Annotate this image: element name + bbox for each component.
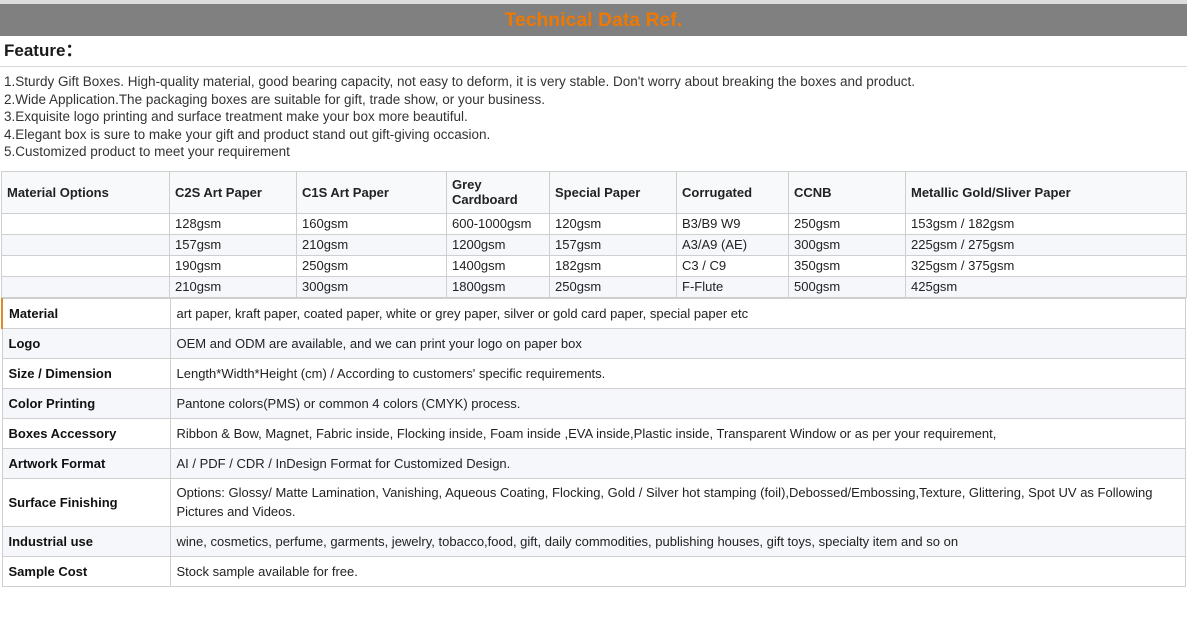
cell-c2s: 210gsm — [170, 276, 297, 297]
cell-material-options — [2, 234, 170, 255]
spec-value: OEM and ODM are available, and we can pr… — [170, 328, 1186, 358]
page-banner: Technical Data Ref. — [0, 4, 1187, 36]
spec-label: Color Printing — [2, 388, 170, 418]
cell-c1s: 160gsm — [297, 213, 447, 234]
spec-value: wine, cosmetics, perfume, garments, jewe… — [170, 526, 1186, 556]
table-row: 128gsm 160gsm 600-1000gsm 120gsm B3/B9 W… — [2, 213, 1187, 234]
cell-grey: 600-1000gsm — [447, 213, 550, 234]
cell-metallic: 225gsm / 275gsm — [906, 234, 1187, 255]
cell-material-options — [2, 213, 170, 234]
spec-row-surface-finishing: Surface Finishing Options: Glossy/ Matte… — [2, 478, 1186, 526]
specification-table: Material art paper, kraft paper, coated … — [1, 298, 1186, 587]
cell-ccnb: 500gsm — [789, 276, 906, 297]
table-row: 210gsm 300gsm 1800gsm 250gsm F-Flute 500… — [2, 276, 1187, 297]
page-title: Technical Data Ref. — [505, 11, 683, 30]
column-header-corrugated: Corrugated — [677, 171, 789, 213]
spec-label: Size / Dimension — [2, 358, 170, 388]
spec-label: Artwork Format — [2, 448, 170, 478]
cell-corrugated: F-Flute — [677, 276, 789, 297]
cell-c1s: 210gsm — [297, 234, 447, 255]
spec-value: art paper, kraft paper, coated paper, wh… — [170, 298, 1186, 328]
spec-label: Material — [2, 298, 170, 328]
cell-special: 250gsm — [550, 276, 677, 297]
cell-ccnb: 300gsm — [789, 234, 906, 255]
spec-row-logo: Logo OEM and ODM are available, and we c… — [2, 328, 1186, 358]
feature-line: 1.Sturdy Gift Boxes. High-quality materi… — [4, 73, 1183, 91]
spec-row-size-dimension: Size / Dimension Length*Width*Height (cm… — [2, 358, 1186, 388]
cell-c2s: 128gsm — [170, 213, 297, 234]
cell-metallic: 153gsm / 182gsm — [906, 213, 1187, 234]
cell-ccnb: 350gsm — [789, 255, 906, 276]
material-options-table: Material Options C2S Art Paper C1S Art P… — [1, 171, 1187, 298]
spec-value: Stock sample available for free. — [170, 556, 1186, 586]
feature-line: 5.Customized product to meet your requir… — [4, 143, 1183, 161]
column-header-metallic-gold-sliver-paper: Metallic Gold/Sliver Paper — [906, 171, 1187, 213]
cell-c2s: 157gsm — [170, 234, 297, 255]
feature-heading-bar: Feature： — [0, 36, 1187, 67]
cell-material-options — [2, 255, 170, 276]
column-header-ccnb: CCNB — [789, 171, 906, 213]
spec-row-sample-cost: Sample Cost Stock sample available for f… — [2, 556, 1186, 586]
feature-line: 4.Elegant box is sure to make your gift … — [4, 126, 1183, 144]
spec-row-color-printing: Color Printing Pantone colors(PMS) or co… — [2, 388, 1186, 418]
spec-row-boxes-accessory: Boxes Accessory Ribbon & Bow, Magnet, Fa… — [2, 418, 1186, 448]
column-header-special-paper: Special Paper — [550, 171, 677, 213]
cell-material-options — [2, 276, 170, 297]
cell-metallic: 325gsm / 375gsm — [906, 255, 1187, 276]
spec-value: Options: Glossy/ Matte Lamination, Vanis… — [170, 478, 1186, 526]
cell-corrugated: A3/A9 (AE) — [677, 234, 789, 255]
cell-special: 120gsm — [550, 213, 677, 234]
spec-label: Boxes Accessory — [2, 418, 170, 448]
table-row: 190gsm 250gsm 1400gsm 182gsm C3 / C9 350… — [2, 255, 1187, 276]
cell-grey: 1400gsm — [447, 255, 550, 276]
feature-line: 3.Exquisite logo printing and surface tr… — [4, 108, 1183, 126]
spec-label: Industrial use — [2, 526, 170, 556]
spec-label: Surface Finishing — [2, 478, 170, 526]
spec-label: Sample Cost — [2, 556, 170, 586]
cell-metallic: 425gsm — [906, 276, 1187, 297]
cell-special: 157gsm — [550, 234, 677, 255]
spec-value: Ribbon & Bow, Magnet, Fabric inside, Flo… — [170, 418, 1186, 448]
table-row: 157gsm 210gsm 1200gsm 157gsm A3/A9 (AE) … — [2, 234, 1187, 255]
column-header-material-options: Material Options — [2, 171, 170, 213]
cell-ccnb: 250gsm — [789, 213, 906, 234]
cell-grey: 1200gsm — [447, 234, 550, 255]
column-header-c1s-art-paper: C1S Art Paper — [297, 171, 447, 213]
spec-row-industrial-use: Industrial use wine, cosmetics, perfume,… — [2, 526, 1186, 556]
spec-row-artwork-format: Artwork Format AI / PDF / CDR / InDesign… — [2, 448, 1186, 478]
cell-special: 182gsm — [550, 255, 677, 276]
feature-list: 1.Sturdy Gift Boxes. High-quality materi… — [0, 67, 1187, 168]
cell-corrugated: C3 / C9 — [677, 255, 789, 276]
cell-c2s: 190gsm — [170, 255, 297, 276]
column-header-c2s-art-paper: C2S Art Paper — [170, 171, 297, 213]
cell-grey: 1800gsm — [447, 276, 550, 297]
cell-c1s: 250gsm — [297, 255, 447, 276]
feature-line: 2.Wide Application.The packaging boxes a… — [4, 91, 1183, 109]
technical-data-sheet: Technical Data Ref. Feature： 1.Sturdy Gi… — [0, 0, 1187, 620]
spec-label: Logo — [2, 328, 170, 358]
feature-heading: Feature： — [4, 40, 1183, 62]
cell-c1s: 300gsm — [297, 276, 447, 297]
spec-row-material: Material art paper, kraft paper, coated … — [2, 298, 1186, 328]
spec-value: Pantone colors(PMS) or common 4 colors (… — [170, 388, 1186, 418]
table-header-row: Material Options C2S Art Paper C1S Art P… — [2, 171, 1187, 213]
spec-value: AI / PDF / CDR / InDesign Format for Cus… — [170, 448, 1186, 478]
column-header-grey-cardboard: Grey Cardboard — [447, 171, 550, 213]
cell-corrugated: B3/B9 W9 — [677, 213, 789, 234]
spec-value: Length*Width*Height (cm) / According to … — [170, 358, 1186, 388]
